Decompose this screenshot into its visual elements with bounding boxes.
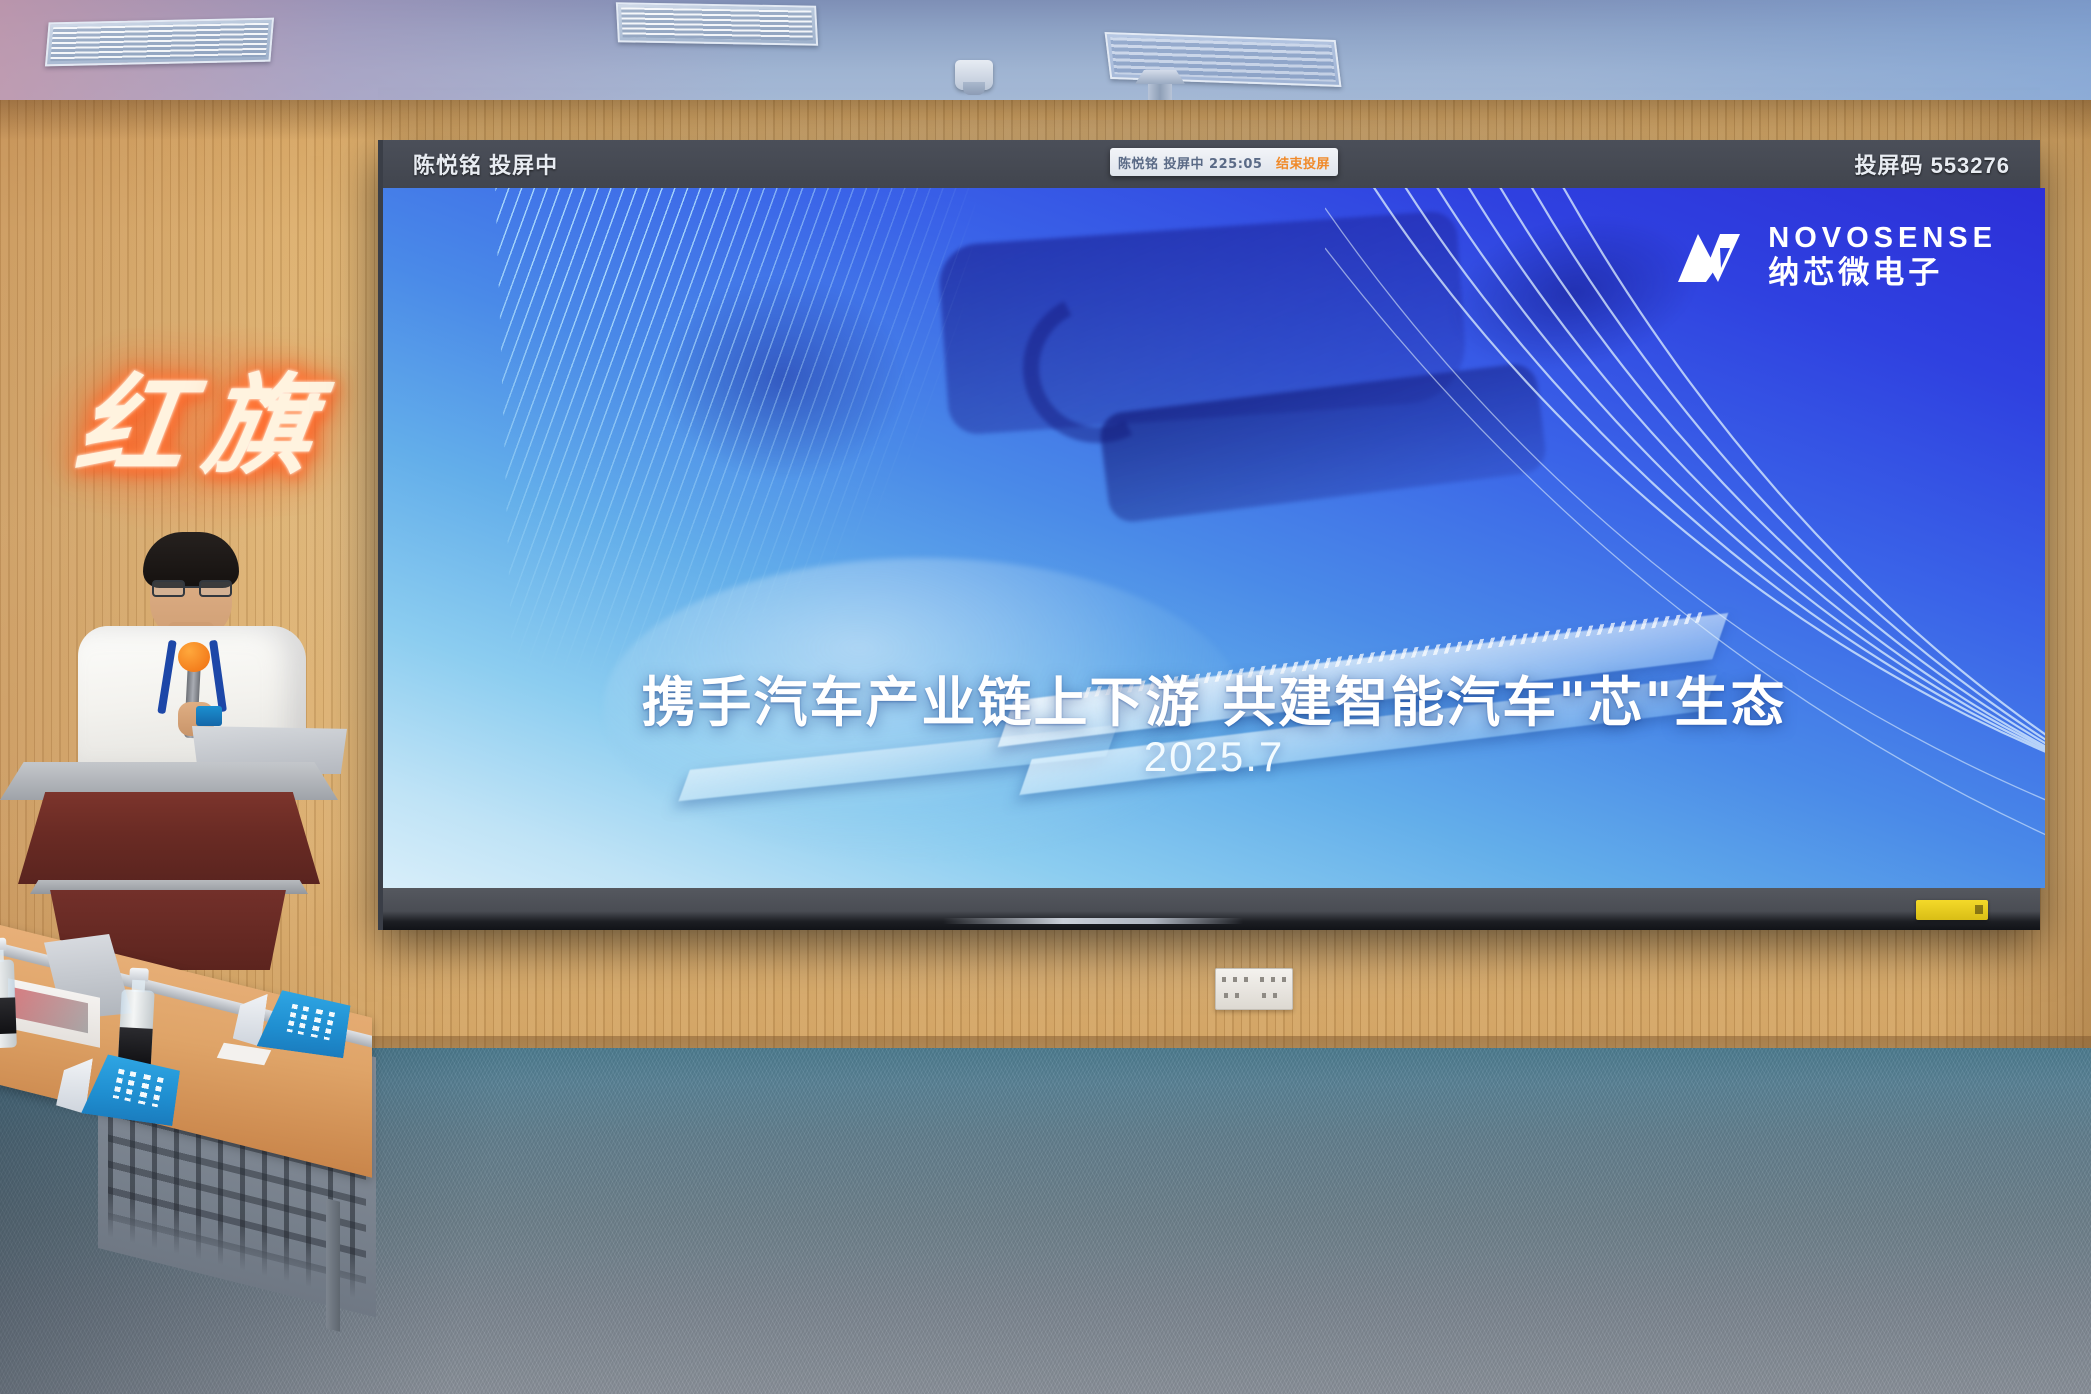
- inspection-sticker: [1916, 900, 1988, 920]
- logo-english-text: NOVOSENSE: [1768, 224, 1997, 253]
- glasses-bridge: [185, 586, 199, 588]
- led-display-screen[interactable]: 陈悦铭 投屏中 投屏码 553276: [378, 140, 2040, 930]
- end-cast-button[interactable]: 结束投屏: [1276, 153, 1330, 172]
- id-badge: [196, 706, 222, 726]
- name-tent-card: [257, 988, 352, 1058]
- slide-title: 携手汽车产业链上下游 共建智能汽车"芯"生态: [383, 658, 2045, 737]
- slide-date: 2025.7: [383, 733, 2045, 781]
- wall-power-socket[interactable]: [1215, 968, 1293, 1010]
- screen-bottom-bezel: [383, 888, 2040, 930]
- light-fiber-lines-right: [1325, 188, 2045, 888]
- glasses-right-lens: [199, 580, 232, 597]
- neon-char-qi: 旗: [197, 372, 320, 480]
- presentation-slide: NOVOSENSE 纳芯微电子 携手汽车产业链上下游 共建智能汽车"芯"生态 2…: [383, 188, 2045, 888]
- front-row-table: [0, 900, 390, 1394]
- cast-control-overlay[interactable]: 陈悦铭 投屏中 225:05 结束投屏: [1110, 148, 1338, 176]
- name-tent-card: [81, 1052, 181, 1126]
- conference-room-photo: 红 旗 陈悦铭 投屏中 投屏码 553276: [0, 0, 2091, 1394]
- socket-outlet[interactable]: [1254, 969, 1292, 1009]
- cast-session-status: 陈悦铭 投屏中 225:05: [1118, 153, 1262, 172]
- smoke-detector-icon: [955, 60, 993, 90]
- novosense-logo: NOVOSENSE 纳芯微电子: [1676, 224, 1997, 289]
- neon-char-hong: 红: [70, 372, 193, 480]
- neon-sign-hongqi: 红 旗: [78, 358, 313, 493]
- logo-wordmark: NOVOSENSE 纳芯微电子: [1768, 224, 1997, 289]
- speaker-at-podium: [0, 530, 360, 930]
- vent-slats: [621, 7, 813, 40]
- vent-slats: [50, 23, 268, 61]
- air-vent-icon: [45, 18, 274, 67]
- microphone-icon: [178, 642, 210, 672]
- table-laptop: [8, 940, 128, 1032]
- logo-chinese-text: 纳芯微电子: [1768, 258, 1997, 289]
- glasses-left-lens: [152, 580, 185, 597]
- fiber-curves-svg: [1325, 188, 2045, 888]
- table-leg: [326, 1198, 340, 1331]
- casting-status-label: 陈悦铭 投屏中: [413, 148, 558, 180]
- socket-outlet[interactable]: [1216, 969, 1254, 1009]
- novosense-n-mark-icon: [1676, 228, 1754, 286]
- bottle-label: [0, 997, 16, 1034]
- bezel-metal-strip: [943, 918, 1243, 924]
- glasses-icon: [152, 580, 232, 597]
- air-vent-icon: [616, 2, 818, 45]
- podium-front-panel: [18, 792, 320, 884]
- light-fiber-lines-left: [494, 188, 992, 676]
- cast-code-label: 投屏码 553276: [1854, 148, 2010, 180]
